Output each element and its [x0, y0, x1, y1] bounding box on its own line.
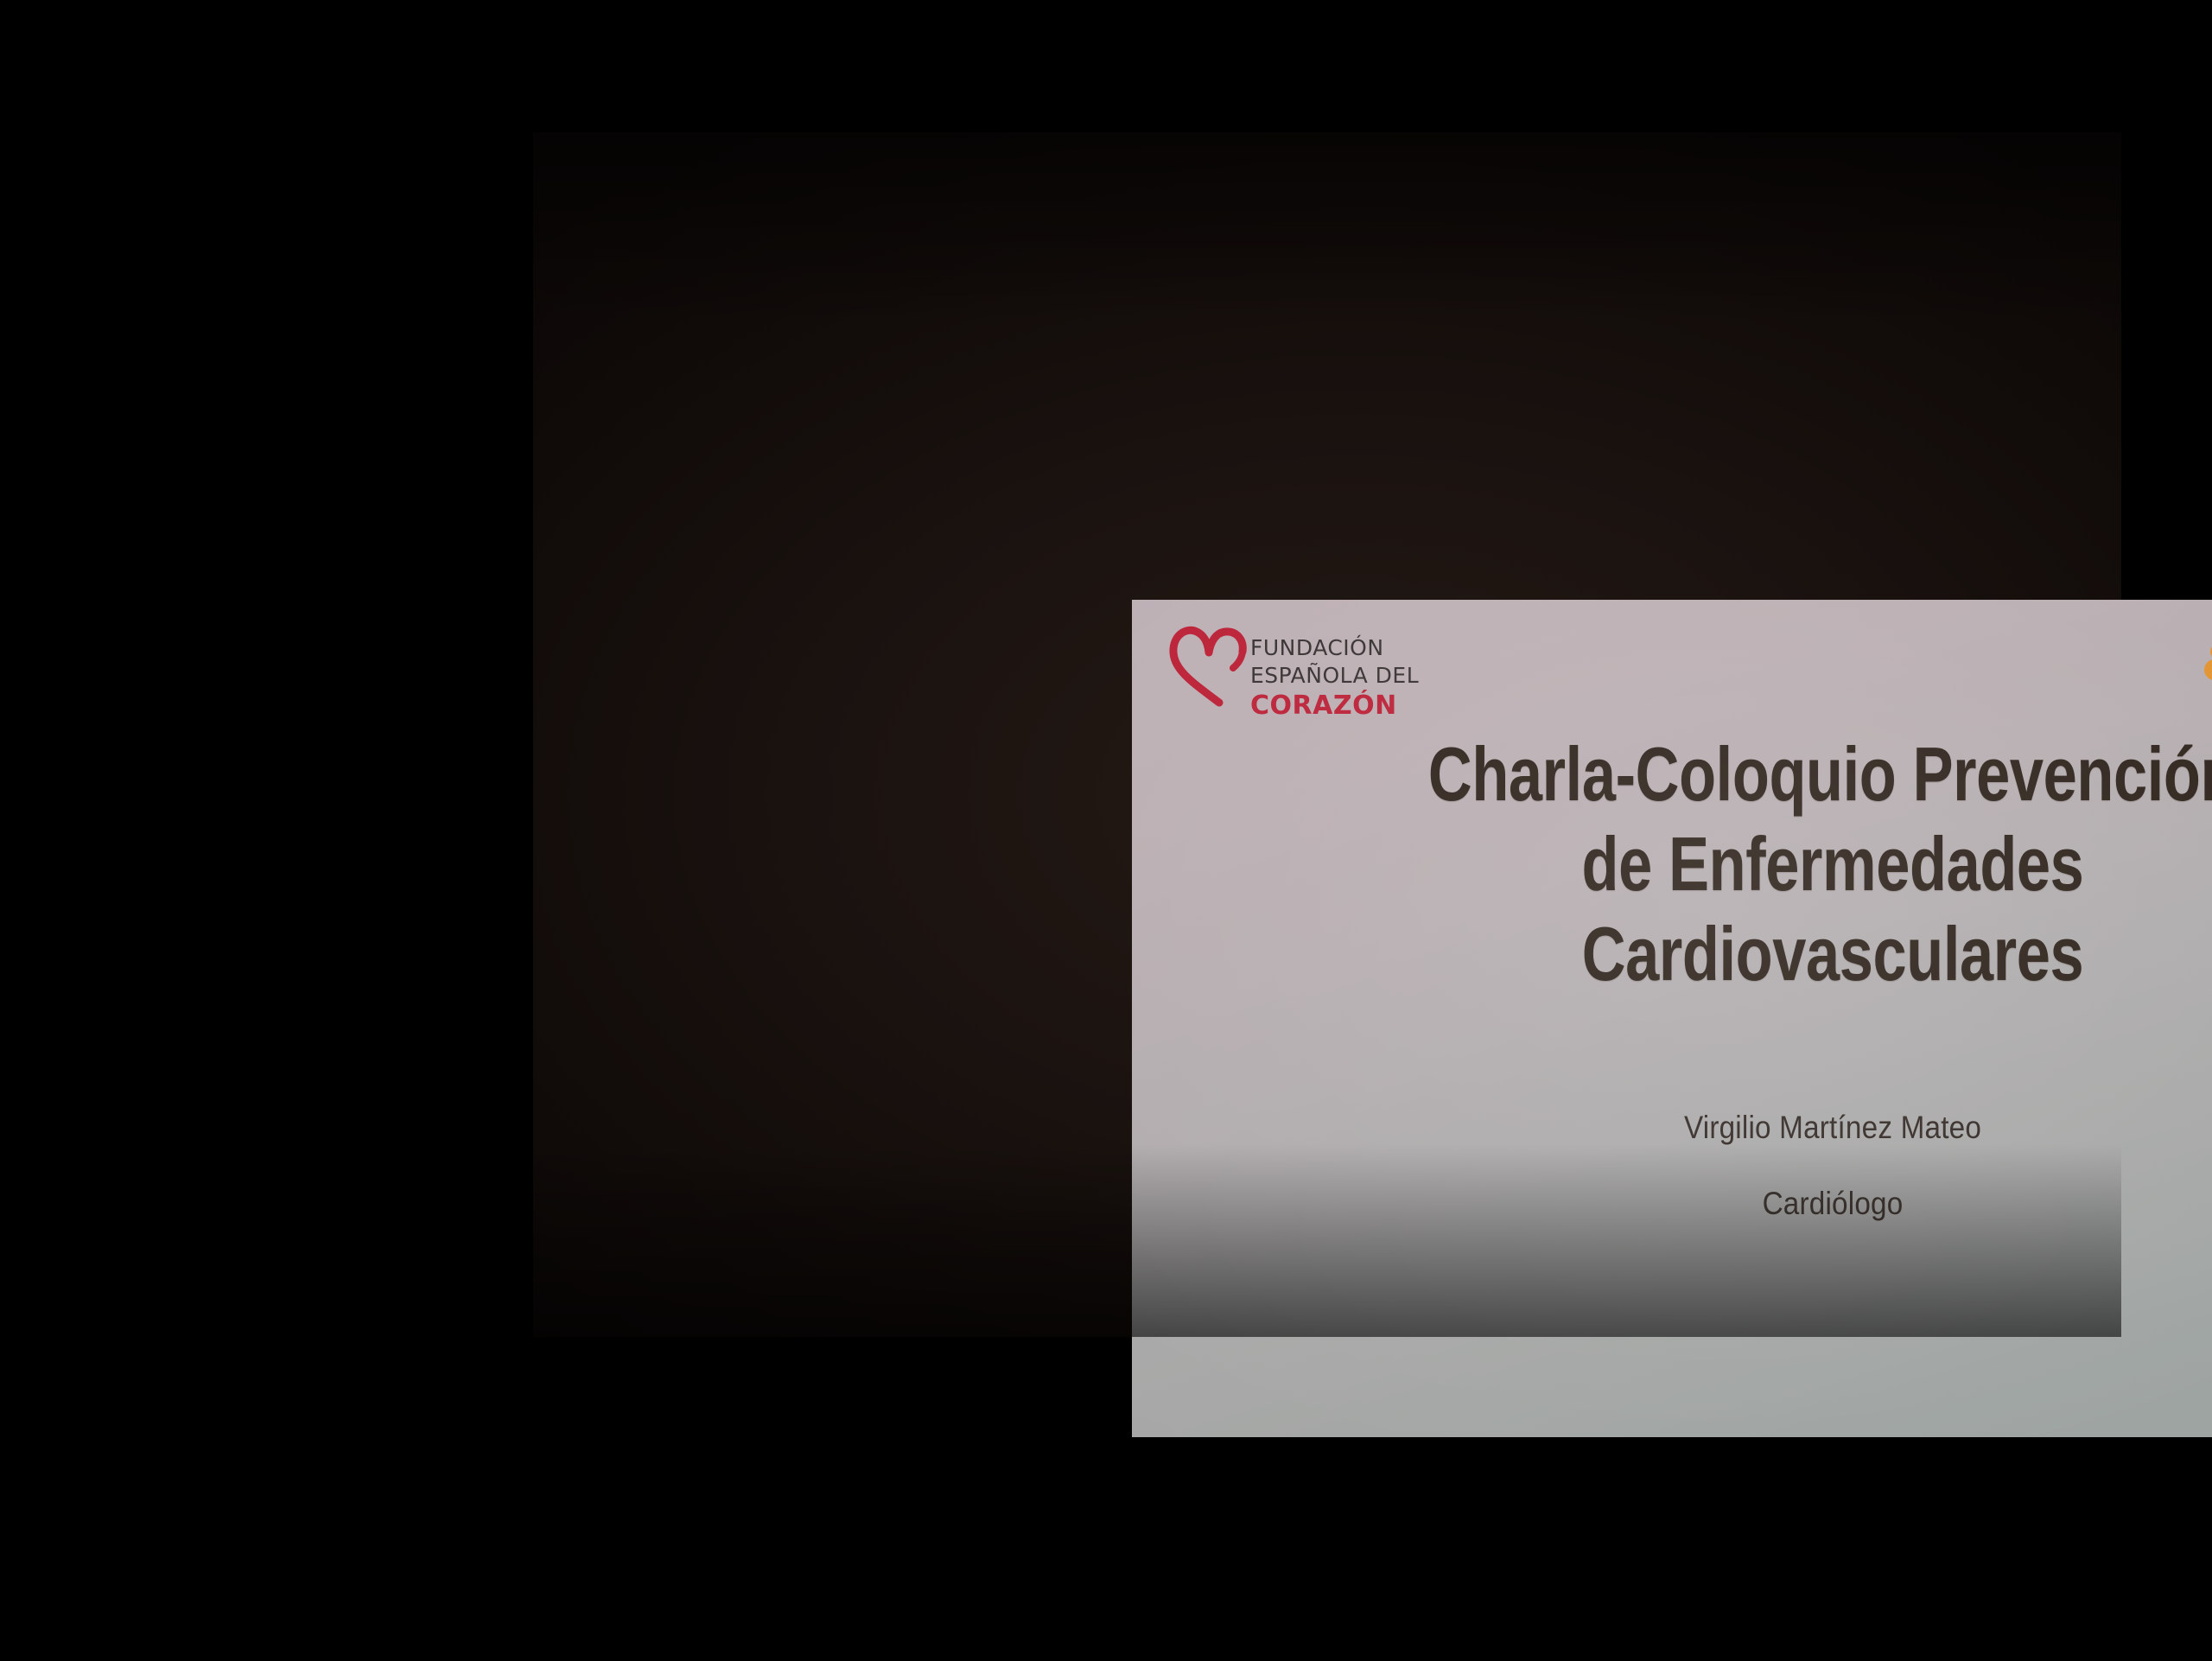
speaker-role: Cardiólogo [1202, 1184, 2212, 1224]
dark-room-background: FUNDACIÓN ESPAÑOLA DEL CORAZÓN [0, 0, 2212, 1661]
heart-outline-icon [1166, 620, 1249, 713]
fec-line-3: CORAZÓN [1250, 690, 1419, 721]
logo-gerencia-atencion-integrada: Gerencia de Atención Integrada Alcázar d… [2203, 612, 2212, 714]
speaker-name: Virgilio Martínez Mateo [1202, 1108, 2212, 1148]
slide-title: Charla-Coloquio Prevención de Enfermedad… [1272, 729, 2212, 998]
logo-fundacion-espanola-del-corazon: FUNDACIÓN ESPAÑOLA DEL CORAZÓN [1166, 610, 1451, 722]
orange-dots-ring-icon [2203, 614, 2212, 711]
slide-title-line-2: de Enfermedades [1272, 819, 2212, 909]
slide-title-line-3: Cardiovasculares [1272, 909, 2212, 999]
fec-line-1: FUNDACIÓN [1250, 634, 1419, 663]
presentation-slide: FUNDACIÓN ESPAÑOLA DEL CORAZÓN [1132, 600, 2212, 1437]
slide-title-line-1: Charla-Coloquio Prevención [1272, 729, 2212, 819]
projection-screen: FUNDACIÓN ESPAÑOLA DEL CORAZÓN [533, 132, 2121, 1337]
speaker-block: Virgilio Martínez Mateo Cardiólogo [1132, 1108, 2212, 1225]
fec-line-2: ESPAÑOLA DEL [1250, 662, 1419, 690]
fec-wordmark: FUNDACIÓN ESPAÑOLA DEL CORAZÓN [1250, 634, 1419, 721]
